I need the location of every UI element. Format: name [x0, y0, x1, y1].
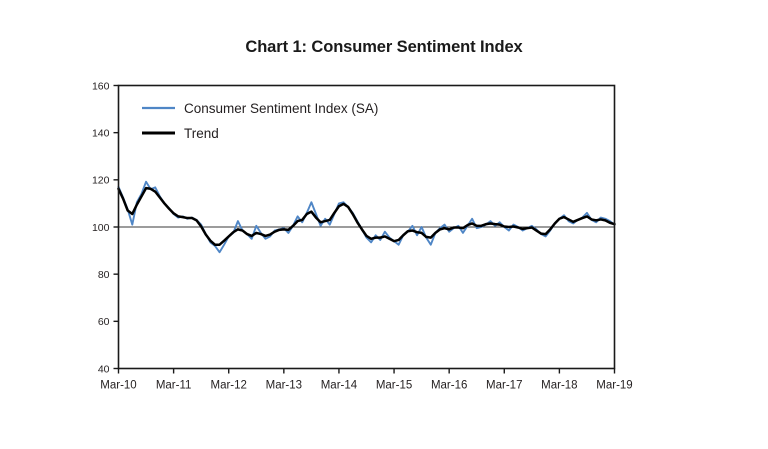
- y-tick-label: 140: [92, 127, 110, 139]
- y-tick-label: 40: [98, 363, 110, 375]
- chart-legend: Consumer Sentiment Index (SA)Trend: [142, 101, 378, 141]
- x-tick-label: Mar-12: [211, 380, 247, 392]
- plot-area: 406080100120140160 Mar-10Mar-11Mar-12Mar…: [0, 0, 768, 449]
- x-axis-ticks: Mar-10Mar-11Mar-12Mar-13Mar-14Mar-15Mar-…: [100, 369, 632, 392]
- y-tick-label: 60: [98, 316, 110, 328]
- x-tick-label: Mar-10: [100, 380, 136, 392]
- x-tick-label: Mar-19: [596, 380, 632, 392]
- legend-label-index: Consumer Sentiment Index (SA): [184, 101, 378, 116]
- y-axis-ticks: 406080100120140160: [92, 80, 119, 375]
- x-tick-label: Mar-11: [156, 380, 192, 392]
- x-tick-label: Mar-15: [376, 380, 412, 392]
- x-tick-label: Mar-16: [431, 380, 467, 392]
- x-tick-label: Mar-18: [541, 380, 577, 392]
- x-tick-label: Mar-17: [486, 380, 522, 392]
- chart-svg: 406080100120140160 Mar-10Mar-11Mar-12Mar…: [0, 0, 768, 449]
- x-tick-label: Mar-13: [266, 380, 302, 392]
- y-tick-label: 80: [98, 269, 110, 281]
- chart-figure: Chart 1: Consumer Sentiment Index 406080…: [0, 0, 768, 449]
- x-tick-label: Mar-14: [321, 380, 358, 392]
- data-series-group: [119, 182, 615, 253]
- series-line-trend: [119, 188, 615, 245]
- series-line-index: [119, 182, 615, 253]
- y-tick-label: 120: [92, 175, 110, 187]
- y-tick-label: 160: [92, 80, 110, 92]
- legend-label-trend: Trend: [184, 126, 219, 141]
- y-tick-label: 100: [92, 222, 110, 234]
